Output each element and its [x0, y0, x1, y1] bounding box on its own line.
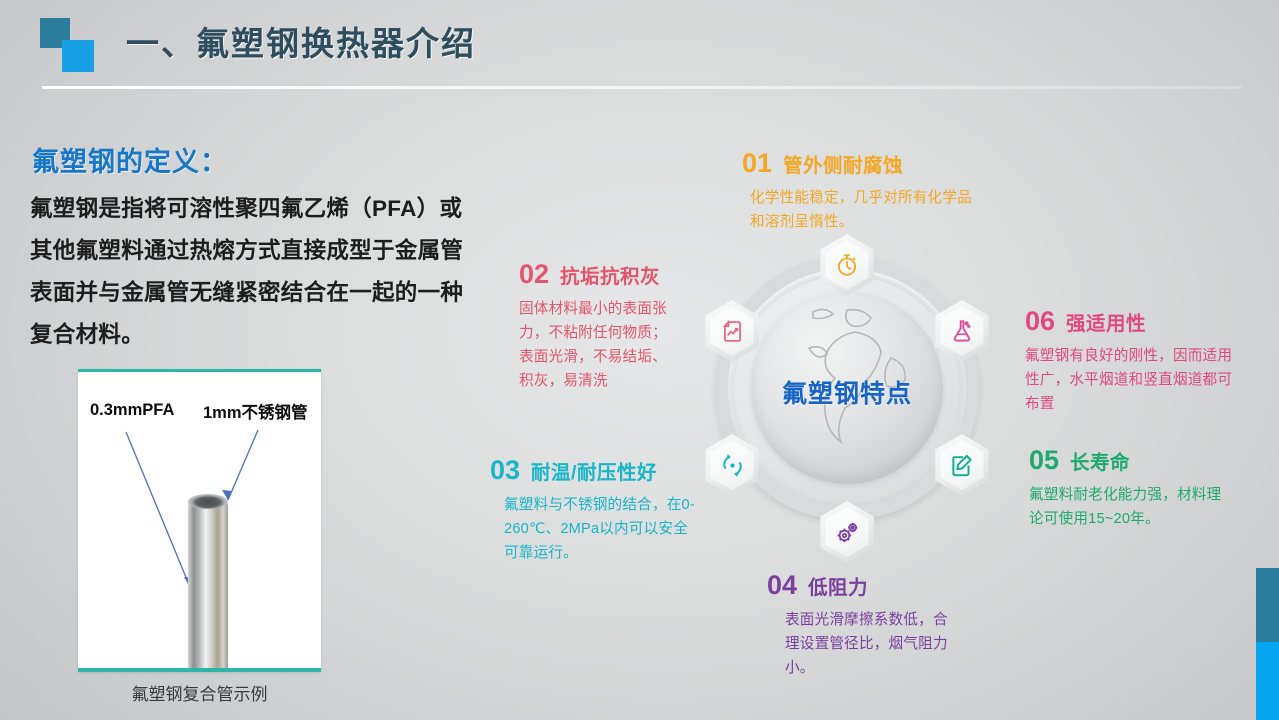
header-divider: [42, 86, 1242, 89]
feature-head: 01 管外侧耐腐蚀: [742, 148, 972, 179]
photo-image: 0.3mmPFA 1mm不锈钢管: [78, 372, 321, 668]
flask-icon: [931, 300, 993, 362]
header-square-blue: [62, 40, 94, 72]
definition-paragraph: 氟塑钢是指将可溶性聚四氟乙烯（PFA）或其他氟塑料通过热熔方式直接成型于金属管表…: [30, 188, 485, 356]
wheel-center-label: 氟塑钢特点: [751, 374, 943, 410]
feature-number: 06: [1025, 306, 1055, 337]
feature-block-02: 02 抗垢抗积灰 固体材料最小的表面张力，不粘附任何物质；表面光滑，不易结垢、积…: [519, 259, 679, 393]
wheel-node-edit-document[interactable]: [931, 434, 993, 496]
wheel-node-recycle[interactable]: [701, 434, 763, 496]
photo-caption: 氟塑钢复合管示例: [78, 680, 321, 705]
pipe-body: [188, 500, 228, 668]
wheel-node-chart-document[interactable]: [701, 300, 763, 362]
feature-block-04: 04 低阻力 表面光滑摩擦系数低，合理设置管径比，烟气阻力小。: [767, 570, 962, 680]
feature-description: 固体材料最小的表面张力，不粘附任何物质；表面光滑，不易结垢、积灰，易清洗: [519, 297, 679, 393]
feature-block-06: 06 强适用性 氟塑钢有良好的刚性，因而适用性广，水平烟道和竖直烟道都可布置: [1025, 306, 1240, 416]
feature-title: 长寿命: [1070, 446, 1130, 475]
feature-number: 04: [767, 570, 797, 601]
features-wheel: 氟塑钢特点: [697, 238, 997, 538]
gears-icon: [816, 501, 878, 563]
feature-description: 氟塑料耐老化能力强，材料理论可使用15~20年。: [1029, 483, 1229, 531]
edit-document-icon: [931, 434, 993, 496]
feature-head: 05 长寿命: [1029, 445, 1229, 476]
page-title: 一、氟塑钢换热器介绍: [126, 17, 476, 65]
feature-description: 氟塑料与不锈钢的结合，在0-260℃、2MPa以内可以安全可靠运行。: [504, 493, 695, 565]
feature-number: 02: [519, 259, 549, 290]
recycle-icon: [701, 434, 763, 496]
feature-block-03: 03 耐温/耐压性好 氟塑料与不锈钢的结合，在0-260℃、2MPa以内可以安全…: [490, 455, 695, 565]
definition-heading: 氟塑钢的定义：: [32, 140, 228, 179]
chart-document-icon: [701, 300, 763, 362]
accent-bar-top: [1256, 568, 1279, 642]
feature-title: 管外侧耐腐蚀: [783, 149, 903, 178]
globe-graphic: 氟塑钢特点: [751, 292, 943, 484]
feature-head: 02 抗垢抗积灰: [519, 259, 679, 290]
wheel-node-stopwatch[interactable]: [816, 234, 878, 296]
feature-block-01: 01 管外侧耐腐蚀 化学性能稳定，几乎对所有化学品和溶剂呈惰性。: [742, 148, 972, 234]
feature-head: 06 强适用性: [1025, 306, 1240, 337]
feature-number: 01: [742, 148, 772, 179]
photo-bottom-rule: [78, 668, 321, 672]
stopwatch-icon: [816, 234, 878, 296]
feature-description: 氟塑钢有良好的刚性，因而适用性广，水平烟道和竖直烟道都可布置: [1025, 344, 1240, 416]
feature-block-05: 05 长寿命 氟塑料耐老化能力强，材料理论可使用15~20年。: [1029, 445, 1229, 531]
feature-description: 表面光滑摩擦系数低，合理设置管径比，烟气阻力小。: [785, 608, 962, 680]
feature-title: 低阻力: [808, 571, 868, 600]
feature-number: 05: [1029, 445, 1059, 476]
feature-title: 耐温/耐压性好: [531, 456, 657, 485]
feature-number: 03: [490, 455, 520, 486]
feature-title: 强适用性: [1066, 307, 1146, 336]
composite-pipe-photo-card: 0.3mmPFA 1mm不锈钢管: [78, 369, 321, 672]
wheel-node-gears[interactable]: [816, 501, 878, 563]
pipe-opening: [188, 494, 228, 509]
feature-head: 03 耐温/耐压性好: [490, 455, 695, 486]
feature-head: 04 低阻力: [767, 570, 962, 601]
accent-bar-bottom: [1256, 642, 1279, 720]
feature-title: 抗垢抗积灰: [560, 260, 660, 289]
feature-description: 化学性能稳定，几乎对所有化学品和溶剂呈惰性。: [750, 186, 972, 234]
slide-canvas: 一、氟塑钢换热器介绍 氟塑钢的定义： 氟塑钢是指将可溶性聚四氟乙烯（PFA）或其…: [0, 0, 1279, 720]
wheel-node-flask[interactable]: [931, 300, 993, 362]
